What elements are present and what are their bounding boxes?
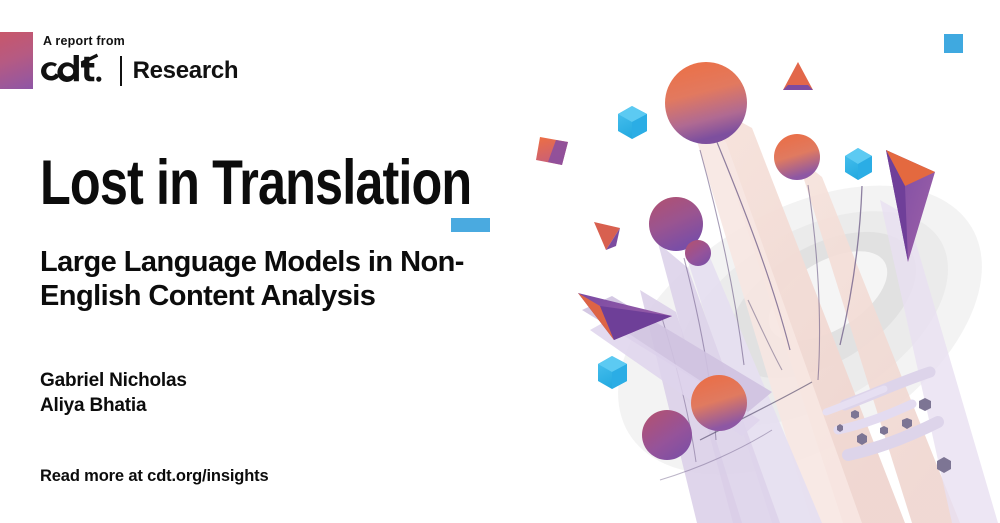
cyan-cube-right: [845, 148, 872, 180]
title-accent-bar: [451, 218, 490, 232]
author-name: Aliya Bhatia: [40, 393, 187, 418]
orange-triangle: [783, 62, 813, 90]
author-list: Gabriel Nicholas Aliya Bhatia: [40, 368, 187, 419]
abstract-burst-illustration: [500, 0, 1000, 523]
division-label: Research: [133, 59, 239, 83]
cdt-logo-icon: [40, 53, 110, 90]
eyebrow-text: A report from: [43, 34, 125, 48]
report-cover: A report from: [0, 0, 1000, 523]
gradient-swatch-icon: [0, 32, 33, 89]
small-purple-ball: [685, 240, 711, 266]
lower-orange-sphere: [691, 375, 747, 431]
lower-magenta-sphere: [642, 410, 692, 460]
large-orange-sphere: [665, 62, 747, 144]
brand-lockup: A report from: [0, 32, 210, 90]
page-title: Lost in Translation: [40, 152, 471, 215]
blue-square: [944, 34, 963, 53]
read-more-note: Read more at cdt.org/insights: [40, 467, 269, 486]
mid-orange-sphere: [774, 134, 820, 180]
page-subtitle: Large Language Models in Non-English Con…: [40, 246, 485, 314]
logo-row: Research: [40, 54, 238, 88]
purple-quad: [536, 137, 568, 165]
logo-divider: [120, 56, 122, 86]
cyan-cube-upper: [618, 106, 647, 139]
author-name: Gabriel Nicholas: [40, 368, 187, 393]
small-tetrahedron: [594, 222, 620, 250]
